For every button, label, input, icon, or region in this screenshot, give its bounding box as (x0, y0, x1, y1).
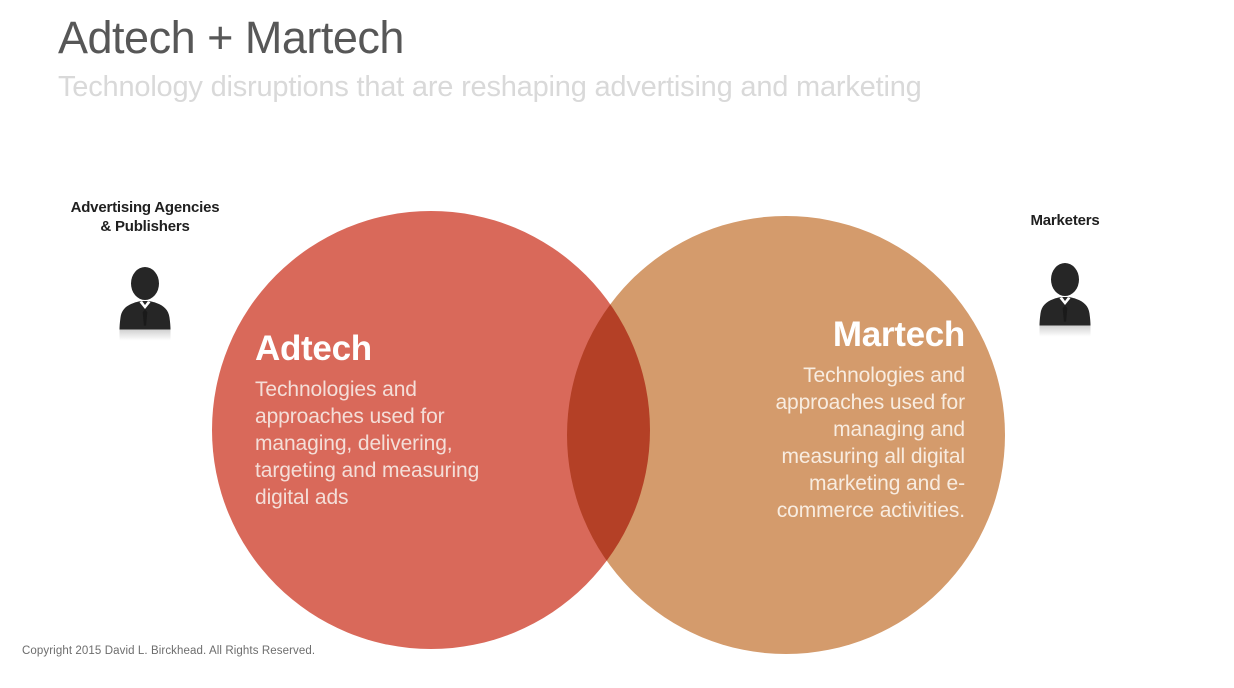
group-right-icon-wrap (985, 262, 1145, 340)
group-left-label-line1: Advertising Agencies (40, 198, 250, 217)
venn-body-adtech: Technologies and approaches used for man… (255, 376, 505, 511)
group-left-label: Advertising Agencies & Publishers (40, 198, 250, 236)
group-right-label-line1: Marketers (985, 211, 1145, 230)
venn-heading-martech: Martech (755, 316, 965, 355)
venn-heading-adtech: Adtech (255, 330, 505, 369)
group-advertising-agencies: Advertising Agencies & Publishers (40, 198, 250, 344)
copyright-notice: Copyright 2015 David L. Birckhead. All R… (22, 645, 315, 657)
group-left-label-line2: & Publishers (40, 217, 250, 236)
venn-diagram: Adtech Technologies and approaches used … (0, 0, 1234, 688)
venn-label-martech: Martech Technologies and approaches used… (755, 316, 965, 524)
venn-body-martech: Technologies and approaches used for man… (755, 362, 965, 524)
group-right-label: Marketers (985, 211, 1145, 230)
venn-label-adtech: Adtech Technologies and approaches used … (255, 330, 505, 511)
businessperson-icon (1030, 262, 1100, 340)
group-left-icon-wrap (40, 266, 250, 344)
group-marketers: Marketers (985, 211, 1145, 340)
businessperson-icon (110, 266, 180, 344)
